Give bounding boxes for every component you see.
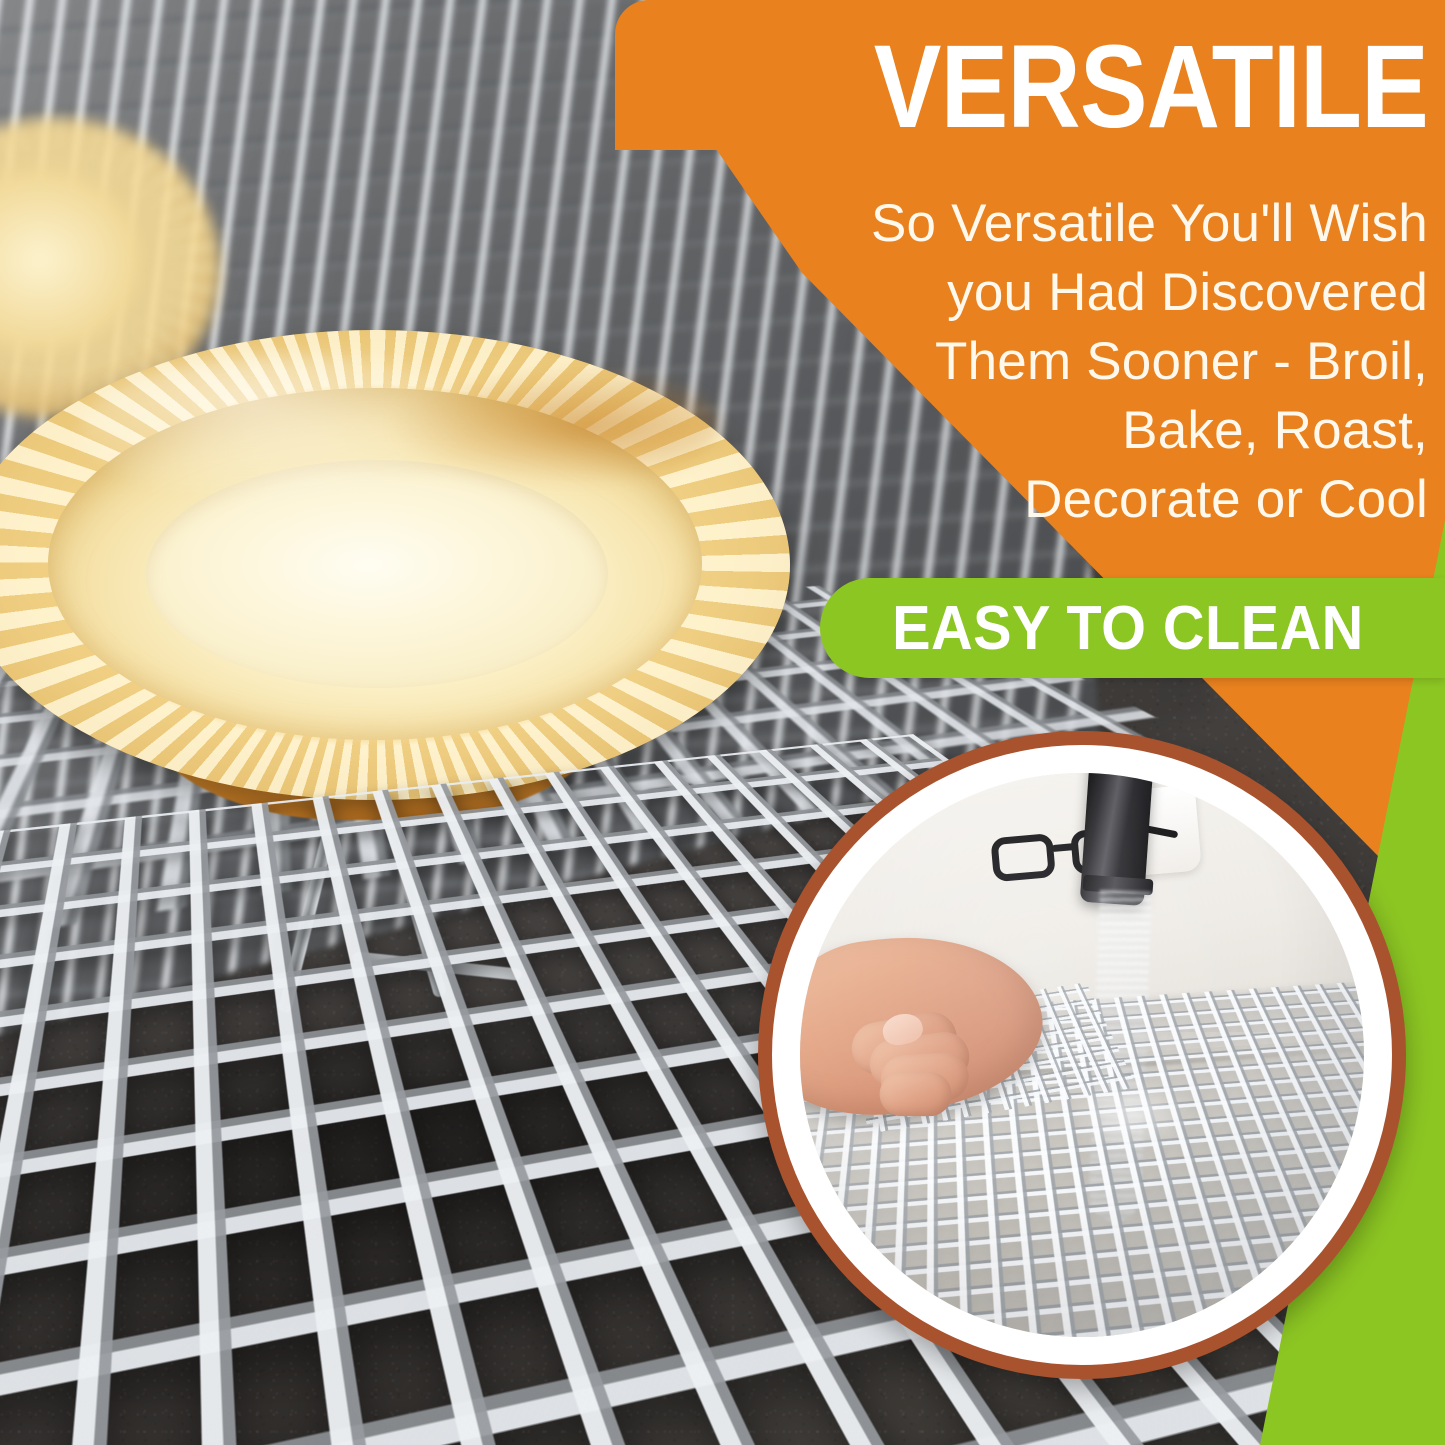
inset-photo-inner-ring (772, 745, 1392, 1365)
water-splash (1071, 1089, 1191, 1151)
feature-description-line: Bake, Roast, (760, 397, 1428, 466)
feature-description-line: So Versatile You'll Wish (760, 190, 1428, 259)
product-feature-image: VERSATILE So Versatile You'll Wish you H… (0, 0, 1445, 1445)
finger (880, 1072, 952, 1116)
feature-description-line: Decorate or Cool (760, 466, 1428, 535)
tart-browned-area (390, 366, 720, 486)
orange-panel-rounded-corner (615, 0, 755, 150)
easy-to-clean-badge: EASY TO CLEAN (820, 578, 1445, 678)
inset-photo-ring (758, 731, 1406, 1379)
eyeglasses-left-lens (990, 833, 1056, 882)
easy-to-clean-label: EASY TO CLEAN (892, 593, 1373, 664)
inset-photo-rinsing-rack (800, 773, 1364, 1337)
feature-description-line: you Had Discovered (760, 259, 1428, 328)
feature-description: So Versatile You'll Wish you Had Discove… (760, 190, 1428, 534)
feature-description-line: Them Sooner - Broil, (760, 328, 1428, 397)
page-title: VERSATILE (768, 28, 1428, 146)
